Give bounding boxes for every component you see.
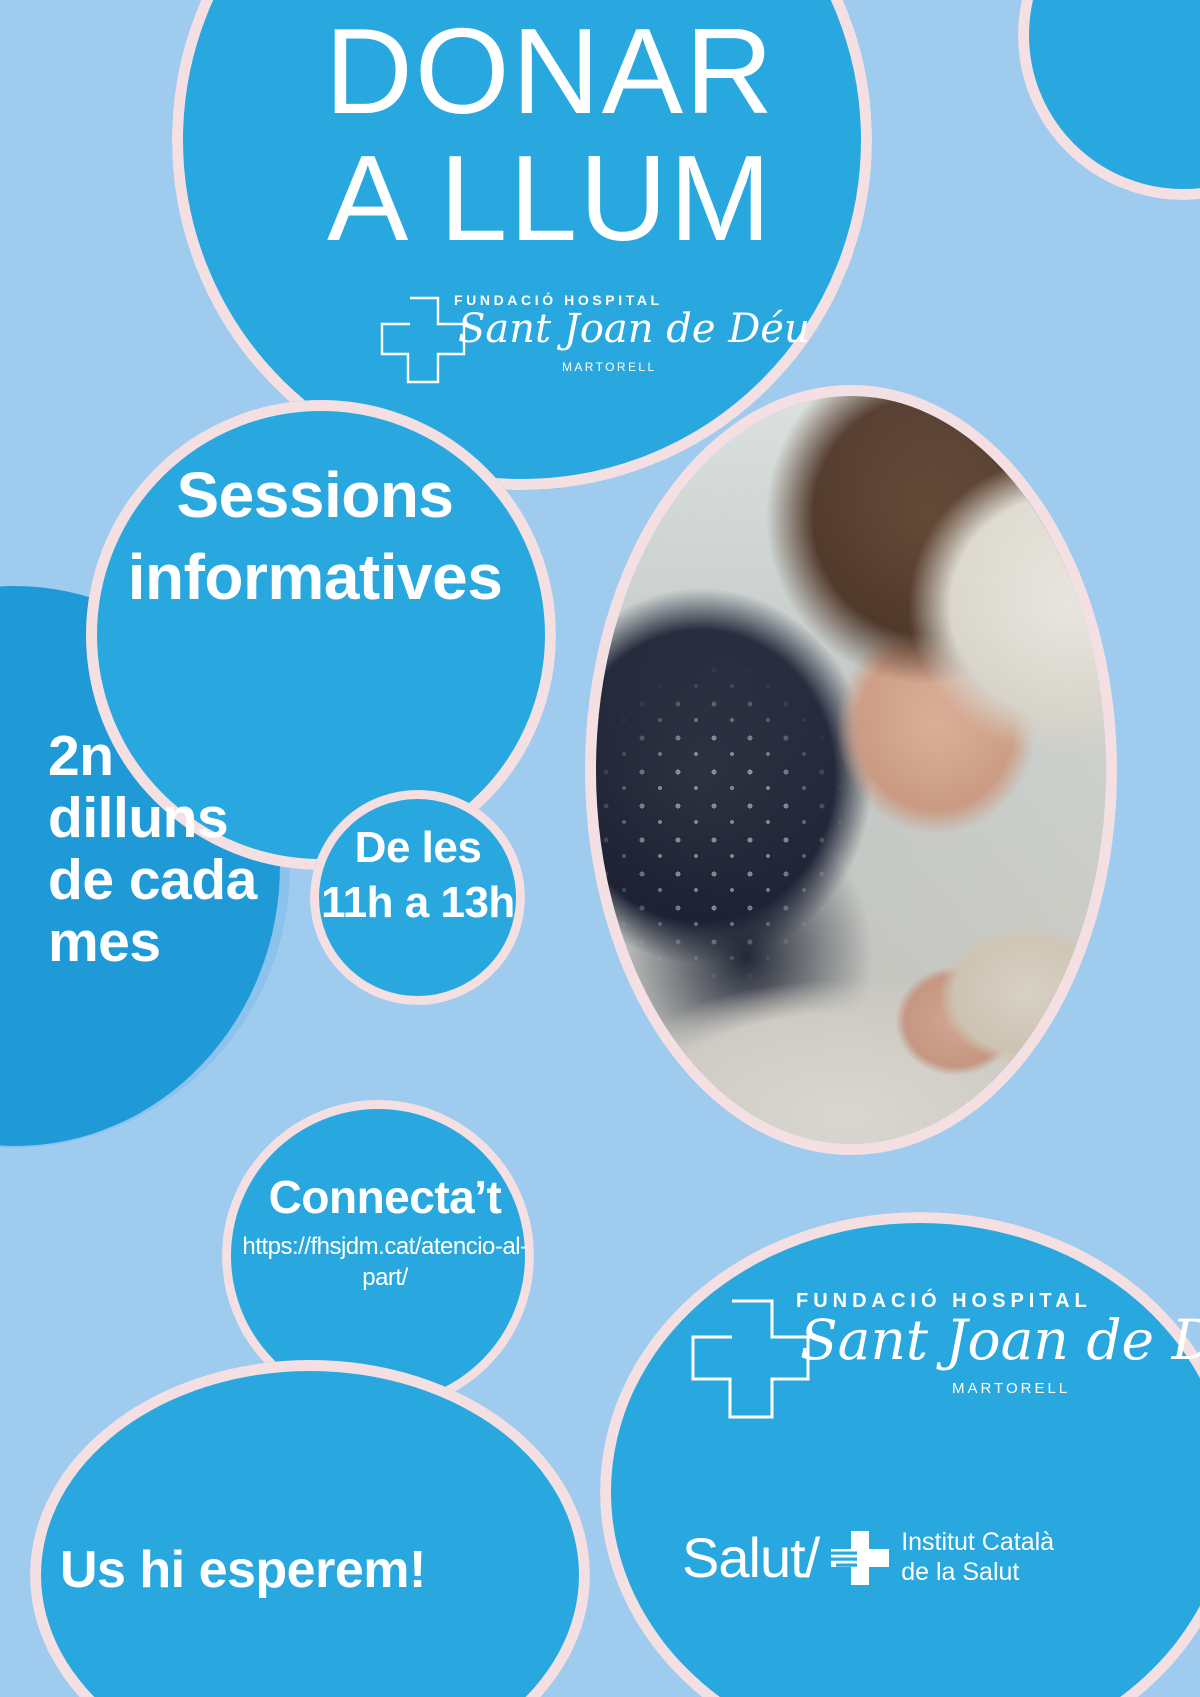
schedule-day-text: 2n dilluns de cada mes xyxy=(48,725,268,974)
ics-line-2: de la Salut xyxy=(901,1558,1019,1586)
closing-message: Us hi esperem! xyxy=(60,1540,490,1600)
mother-and-newborn-photo: Mother holding newborn baby skin to skin… xyxy=(596,396,1106,1144)
salut-ics-logo: Salut/ Institut Català de la Salut xyxy=(682,1528,1054,1587)
connect-block: Connecta’t https://fhsjdm.cat/atencio-al… xyxy=(235,1170,535,1294)
subtitle-sessions-informatives: Sessions informatives xyxy=(80,455,550,619)
schedule-hours: De les 11h a 13h xyxy=(318,820,518,930)
cross-outline-icon xyxy=(380,296,466,384)
page-title: DONAR A LLUM xyxy=(0,8,1100,262)
ics-line-1: Institut Català xyxy=(901,1528,1054,1556)
title-line-1: DONAR xyxy=(0,8,1100,135)
schedule-hours-line-2: 11h a 13h xyxy=(318,875,518,930)
cross-outline-icon xyxy=(690,1298,810,1420)
hospital-name-script: Sant Joan de Déu xyxy=(800,1308,1200,1372)
decorative-ring-logos xyxy=(600,1212,1200,1697)
hospital-logo-top: FUNDACIÓ HOSPITAL Sant Joan de Déu MARTO… xyxy=(380,288,650,388)
connect-heading: Connecta’t xyxy=(235,1170,535,1225)
hospital-name-script: Sant Joan de Déu xyxy=(458,306,810,352)
hospital-location-label: MARTORELL xyxy=(952,1380,1070,1397)
ics-institute-label: Institut Català de la Salut xyxy=(901,1528,1054,1587)
salut-wordmark: Salut/ xyxy=(682,1530,819,1586)
hospital-location-label: MARTORELL xyxy=(562,360,657,374)
schedule-hours-line-1: De les xyxy=(318,820,518,875)
title-line-2: A LLUM xyxy=(0,135,1100,262)
decorative-ring-closing xyxy=(30,1360,590,1697)
photo-gloss-overlay xyxy=(596,396,1106,1144)
ics-cross-icon xyxy=(829,1529,891,1587)
hospital-logo-bottom: FUNDACIÓ HOSPITAL Sant Joan de Déu MARTO… xyxy=(690,1288,1070,1408)
connect-url-link[interactable]: https://fhsjdm.cat/atencio-al-part/ xyxy=(235,1231,535,1293)
poster-canvas: DONAR A LLUM FUNDACIÓ HOSPITAL Sant Joan… xyxy=(0,0,1200,1697)
